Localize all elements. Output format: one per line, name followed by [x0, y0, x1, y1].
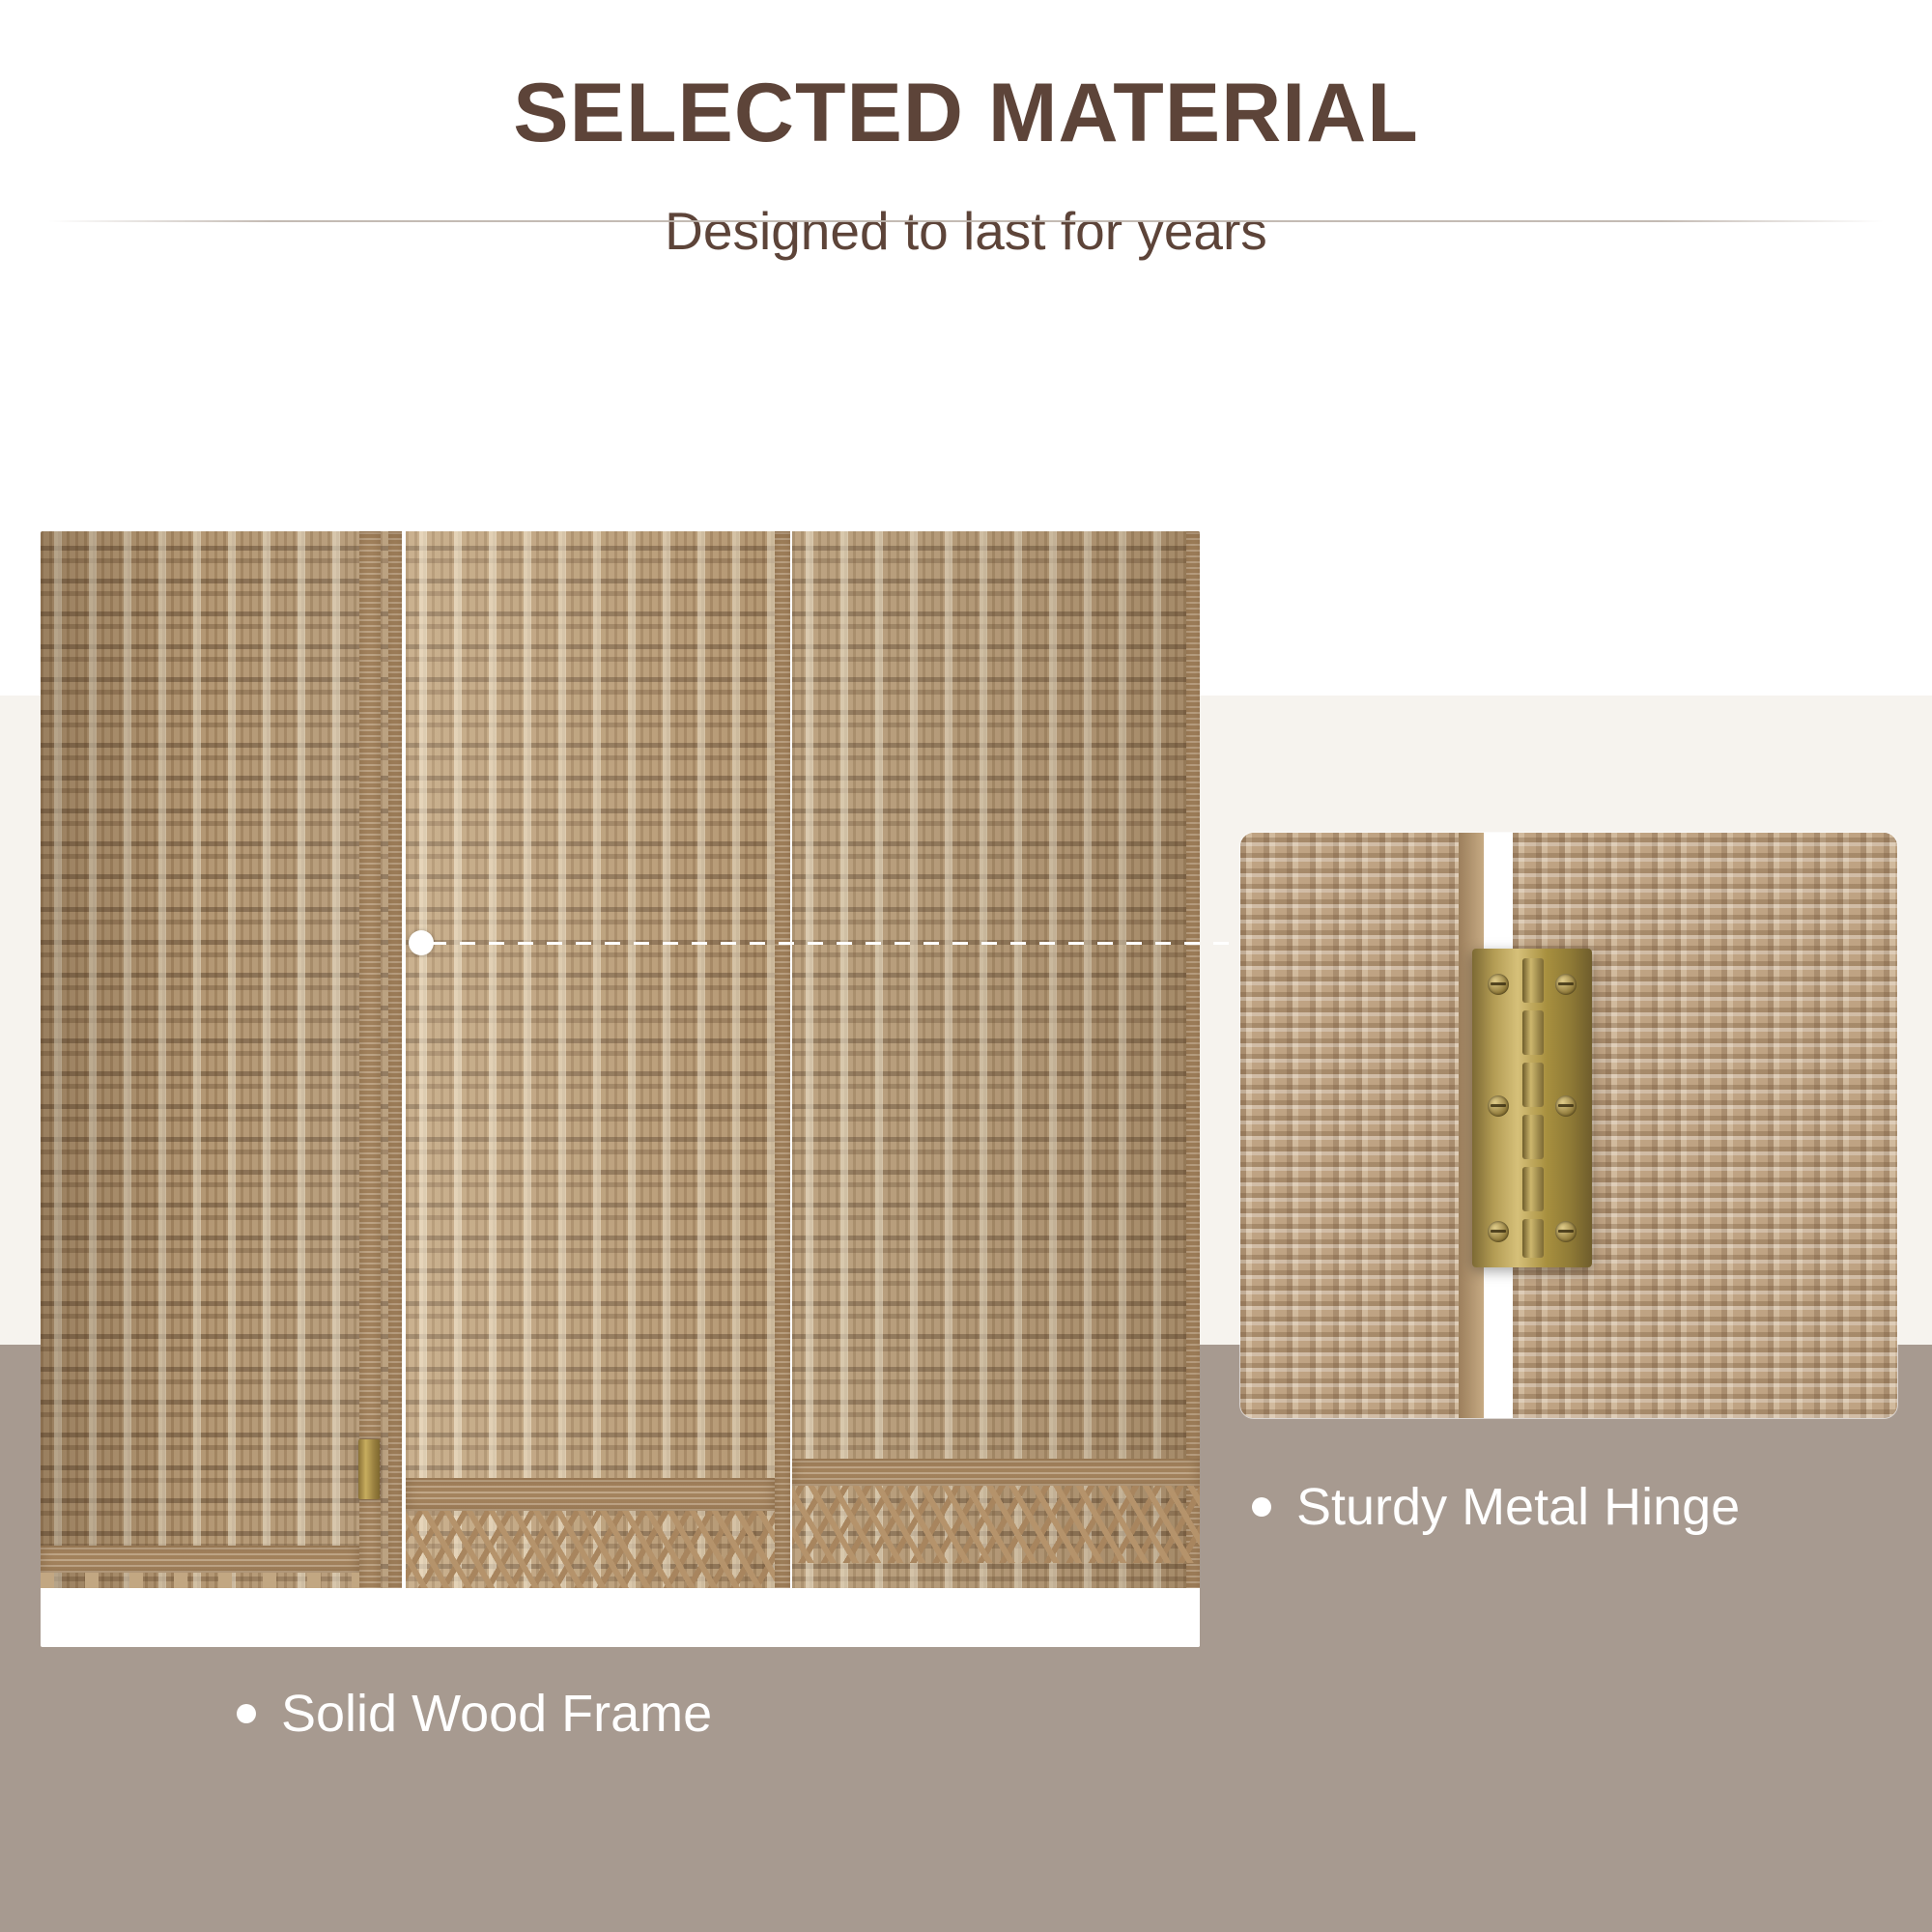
divider-panel-left [41, 531, 400, 1647]
lattice-detail [406, 1511, 775, 1588]
page-title: SELECTED MATERIAL [0, 0, 1932, 156]
wood-frame-bottom-rail [406, 1478, 775, 1511]
screw-icon [1555, 1221, 1577, 1242]
caption-solid-wood-frame: Solid Wood Frame [237, 1683, 712, 1746]
screw-icon [1488, 974, 1509, 995]
header-divider [48, 220, 1884, 222]
caption-sturdy-metal-hinge: Sturdy Metal Hinge [1252, 1476, 1740, 1539]
screw-icon [1488, 1095, 1509, 1117]
hinge-knuckle [1522, 1219, 1544, 1258]
caption-label: Sturdy Metal Hinge [1296, 1476, 1740, 1539]
wood-frame-rail [388, 531, 402, 1647]
wood-frame-rail [775, 531, 790, 1647]
wood-frame-bottom-rail [41, 1546, 359, 1573]
hinge-knuckle [1522, 1115, 1544, 1159]
hinge-knuckle [1522, 958, 1544, 1003]
bullet-icon [1252, 1497, 1271, 1517]
bullet-icon [237, 1704, 256, 1723]
product-photo-hinge-closeup [1240, 833, 1897, 1418]
screw-icon [1555, 974, 1577, 995]
rattan-weave-texture [41, 531, 400, 1647]
product-photo-main [41, 531, 1200, 1647]
page-subtitle: Designed to last for years [0, 156, 1932, 263]
screw-icon [1488, 1221, 1509, 1242]
lattice-detail [792, 1486, 1200, 1563]
hinge-icon [358, 1439, 380, 1499]
screw-icon [1555, 1095, 1577, 1117]
photo-floor-area [406, 1588, 1200, 1647]
hinge-knuckle [1522, 1063, 1544, 1107]
rattan-weave-texture [1240, 833, 1482, 1418]
caption-label: Solid Wood Frame [281, 1683, 712, 1746]
wood-frame-bottom-rail [792, 1459, 1200, 1486]
hinge-knuckle [1522, 1167, 1544, 1211]
hinge-icon [1472, 949, 1592, 1267]
header: SELECTED MATERIAL Designed to last for y… [0, 0, 1932, 263]
hinge-knuckle [1522, 1010, 1544, 1055]
